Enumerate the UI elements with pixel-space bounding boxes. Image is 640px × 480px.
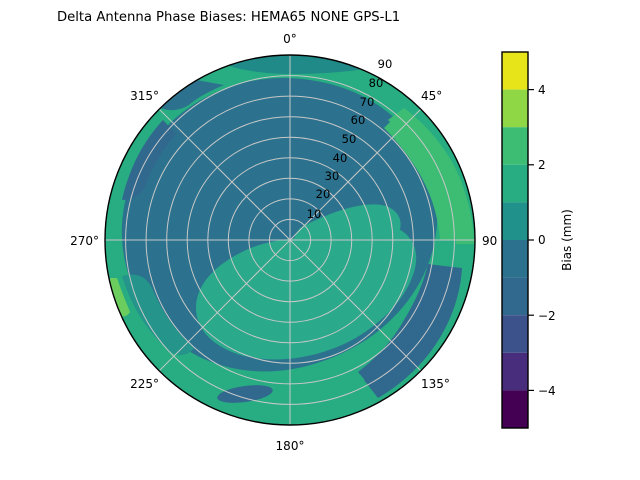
colorbar-ticklabel-4: 4 — [538, 83, 546, 97]
colorbar-band-1to2 — [502, 165, 528, 203]
angular-tick-225: 225° — [130, 377, 159, 391]
angular-tick-315: 315° — [130, 89, 159, 103]
colorbar-ticklabel-2: 2 — [538, 158, 546, 172]
angular-tick-180: 180° — [276, 439, 305, 453]
radial-tick-50: 50 — [342, 132, 357, 146]
radial-tick-10: 10 — [307, 207, 322, 221]
radial-tick-60: 60 — [351, 113, 366, 127]
colorbar-ticklabel-n4: −4 — [538, 384, 556, 398]
radial-tick-30: 30 — [325, 169, 340, 183]
angular-tick-90: 90 — [482, 234, 497, 248]
radial-tick-20: 20 — [316, 187, 331, 201]
colorbar-band-0to1 — [502, 202, 528, 240]
radial-tick-70: 70 — [360, 95, 375, 109]
colorbar-band-neg5to4 — [502, 390, 528, 428]
colorbar-band-3to4 — [502, 90, 528, 128]
colorbar-band-neg2to1 — [502, 278, 528, 316]
colorbar-band-neg3to2 — [502, 315, 528, 353]
colorbar-band-4to5 — [502, 52, 528, 90]
colorbar-bands — [502, 52, 528, 428]
colorbar-band-neg4to3 — [502, 353, 528, 391]
angular-tick-270: 270° — [70, 234, 99, 248]
colorbar-band-2to3 — [502, 127, 528, 165]
angular-tick-45: 45° — [421, 89, 442, 103]
colorbar-ticklabel-n2: −2 — [538, 309, 556, 323]
polar-axes: 10 20 30 40 50 60 70 80 90 0° 45° 90 135… — [70, 32, 497, 453]
page-title: Delta Antenna Phase Biases: HEMA65 NONE … — [57, 10, 400, 25]
colorbar-band-neg1to0 — [502, 240, 528, 278]
colorbar-axis-title: Bias (mm) — [560, 209, 574, 271]
radial-tick-90: 90 — [378, 57, 393, 71]
angular-tick-0: 0° — [283, 32, 297, 46]
radial-tick-80: 80 — [369, 76, 384, 90]
angular-tick-135: 135° — [421, 377, 450, 391]
radial-tick-40: 40 — [333, 151, 348, 165]
angular-gridlines — [105, 55, 475, 425]
colorbar-ticklabel-0: 0 — [538, 233, 546, 247]
figure-canvas: Delta Antenna Phase Biases: HEMA65 NONE … — [0, 0, 640, 480]
